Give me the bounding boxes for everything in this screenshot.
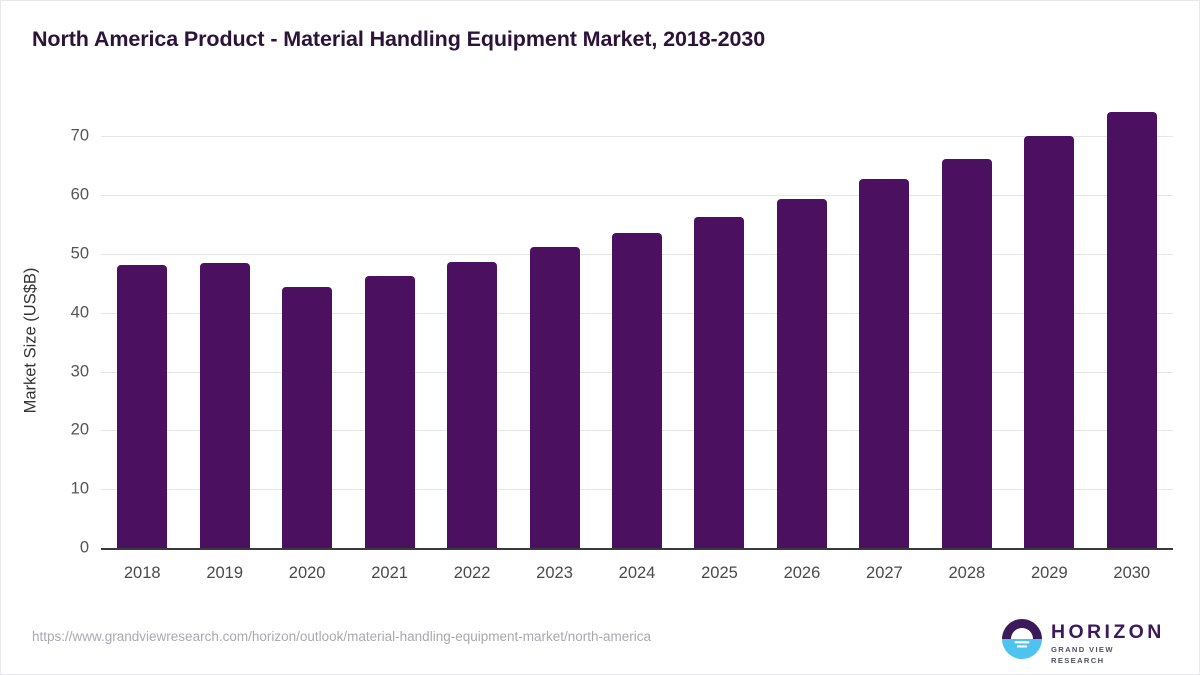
y-axis-tick-label: 0 bbox=[29, 539, 89, 558]
bar bbox=[282, 287, 332, 548]
y-axis-tick-label: 20 bbox=[29, 421, 89, 440]
bar bbox=[365, 276, 415, 548]
x-axis-tick-label: 2030 bbox=[1087, 564, 1177, 583]
bar bbox=[942, 159, 992, 548]
bar bbox=[117, 265, 167, 548]
x-axis-tick-label: 2025 bbox=[674, 564, 764, 583]
horizon-circle-logo-icon bbox=[1001, 618, 1043, 660]
bar bbox=[777, 199, 827, 548]
bar bbox=[694, 217, 744, 548]
bar bbox=[1024, 136, 1074, 548]
logo-text-block: HORIZON GRAND VIEW RESEARCH bbox=[1051, 622, 1165, 666]
x-axis-tick-label: 2024 bbox=[592, 564, 682, 583]
x-axis-tick-label: 2018 bbox=[97, 564, 187, 583]
bar bbox=[530, 247, 580, 548]
y-axis-tick-label: 50 bbox=[29, 244, 89, 263]
x-axis-tick-label: 2027 bbox=[839, 564, 929, 583]
bar bbox=[612, 233, 662, 548]
bar bbox=[200, 263, 250, 548]
x-axis-tick-label: 2026 bbox=[757, 564, 847, 583]
y-axis-tick-label: 10 bbox=[29, 480, 89, 499]
logo-wordmark: HORIZON bbox=[1051, 622, 1165, 642]
x-axis-tick-label: 2028 bbox=[922, 564, 1012, 583]
chart-plot-area: Market Size (US$B) 010203040506070 20182… bbox=[1, 1, 1200, 675]
y-axis-tick-label: 60 bbox=[29, 186, 89, 205]
y-axis-tick-label: 40 bbox=[29, 303, 89, 322]
x-axis-tick-label: 2020 bbox=[262, 564, 352, 583]
y-axis-tick-label: 30 bbox=[29, 362, 89, 381]
gridline bbox=[101, 195, 1173, 196]
x-axis-tick-label: 2023 bbox=[510, 564, 600, 583]
bar bbox=[447, 262, 497, 548]
x-axis-tick-label: 2019 bbox=[180, 564, 270, 583]
x-axis-line bbox=[101, 548, 1173, 550]
horizon-logo: HORIZON GRAND VIEW RESEARCH bbox=[989, 615, 1161, 663]
gridline bbox=[101, 136, 1173, 137]
logo-subtitle: GRAND VIEW RESEARCH bbox=[1051, 644, 1165, 666]
x-axis-tick-label: 2022 bbox=[427, 564, 517, 583]
bar bbox=[859, 179, 909, 548]
chart-screenshot: North America Product - Material Handlin… bbox=[0, 0, 1200, 675]
bar bbox=[1107, 112, 1157, 548]
x-axis-tick-label: 2021 bbox=[345, 564, 435, 583]
y-axis-tick-label: 70 bbox=[29, 127, 89, 146]
source-url-text: https://www.grandviewresearch.com/horizo… bbox=[32, 629, 651, 644]
x-axis-tick-label: 2029 bbox=[1004, 564, 1094, 583]
y-axis-title: Market Size (US$B) bbox=[22, 161, 41, 521]
